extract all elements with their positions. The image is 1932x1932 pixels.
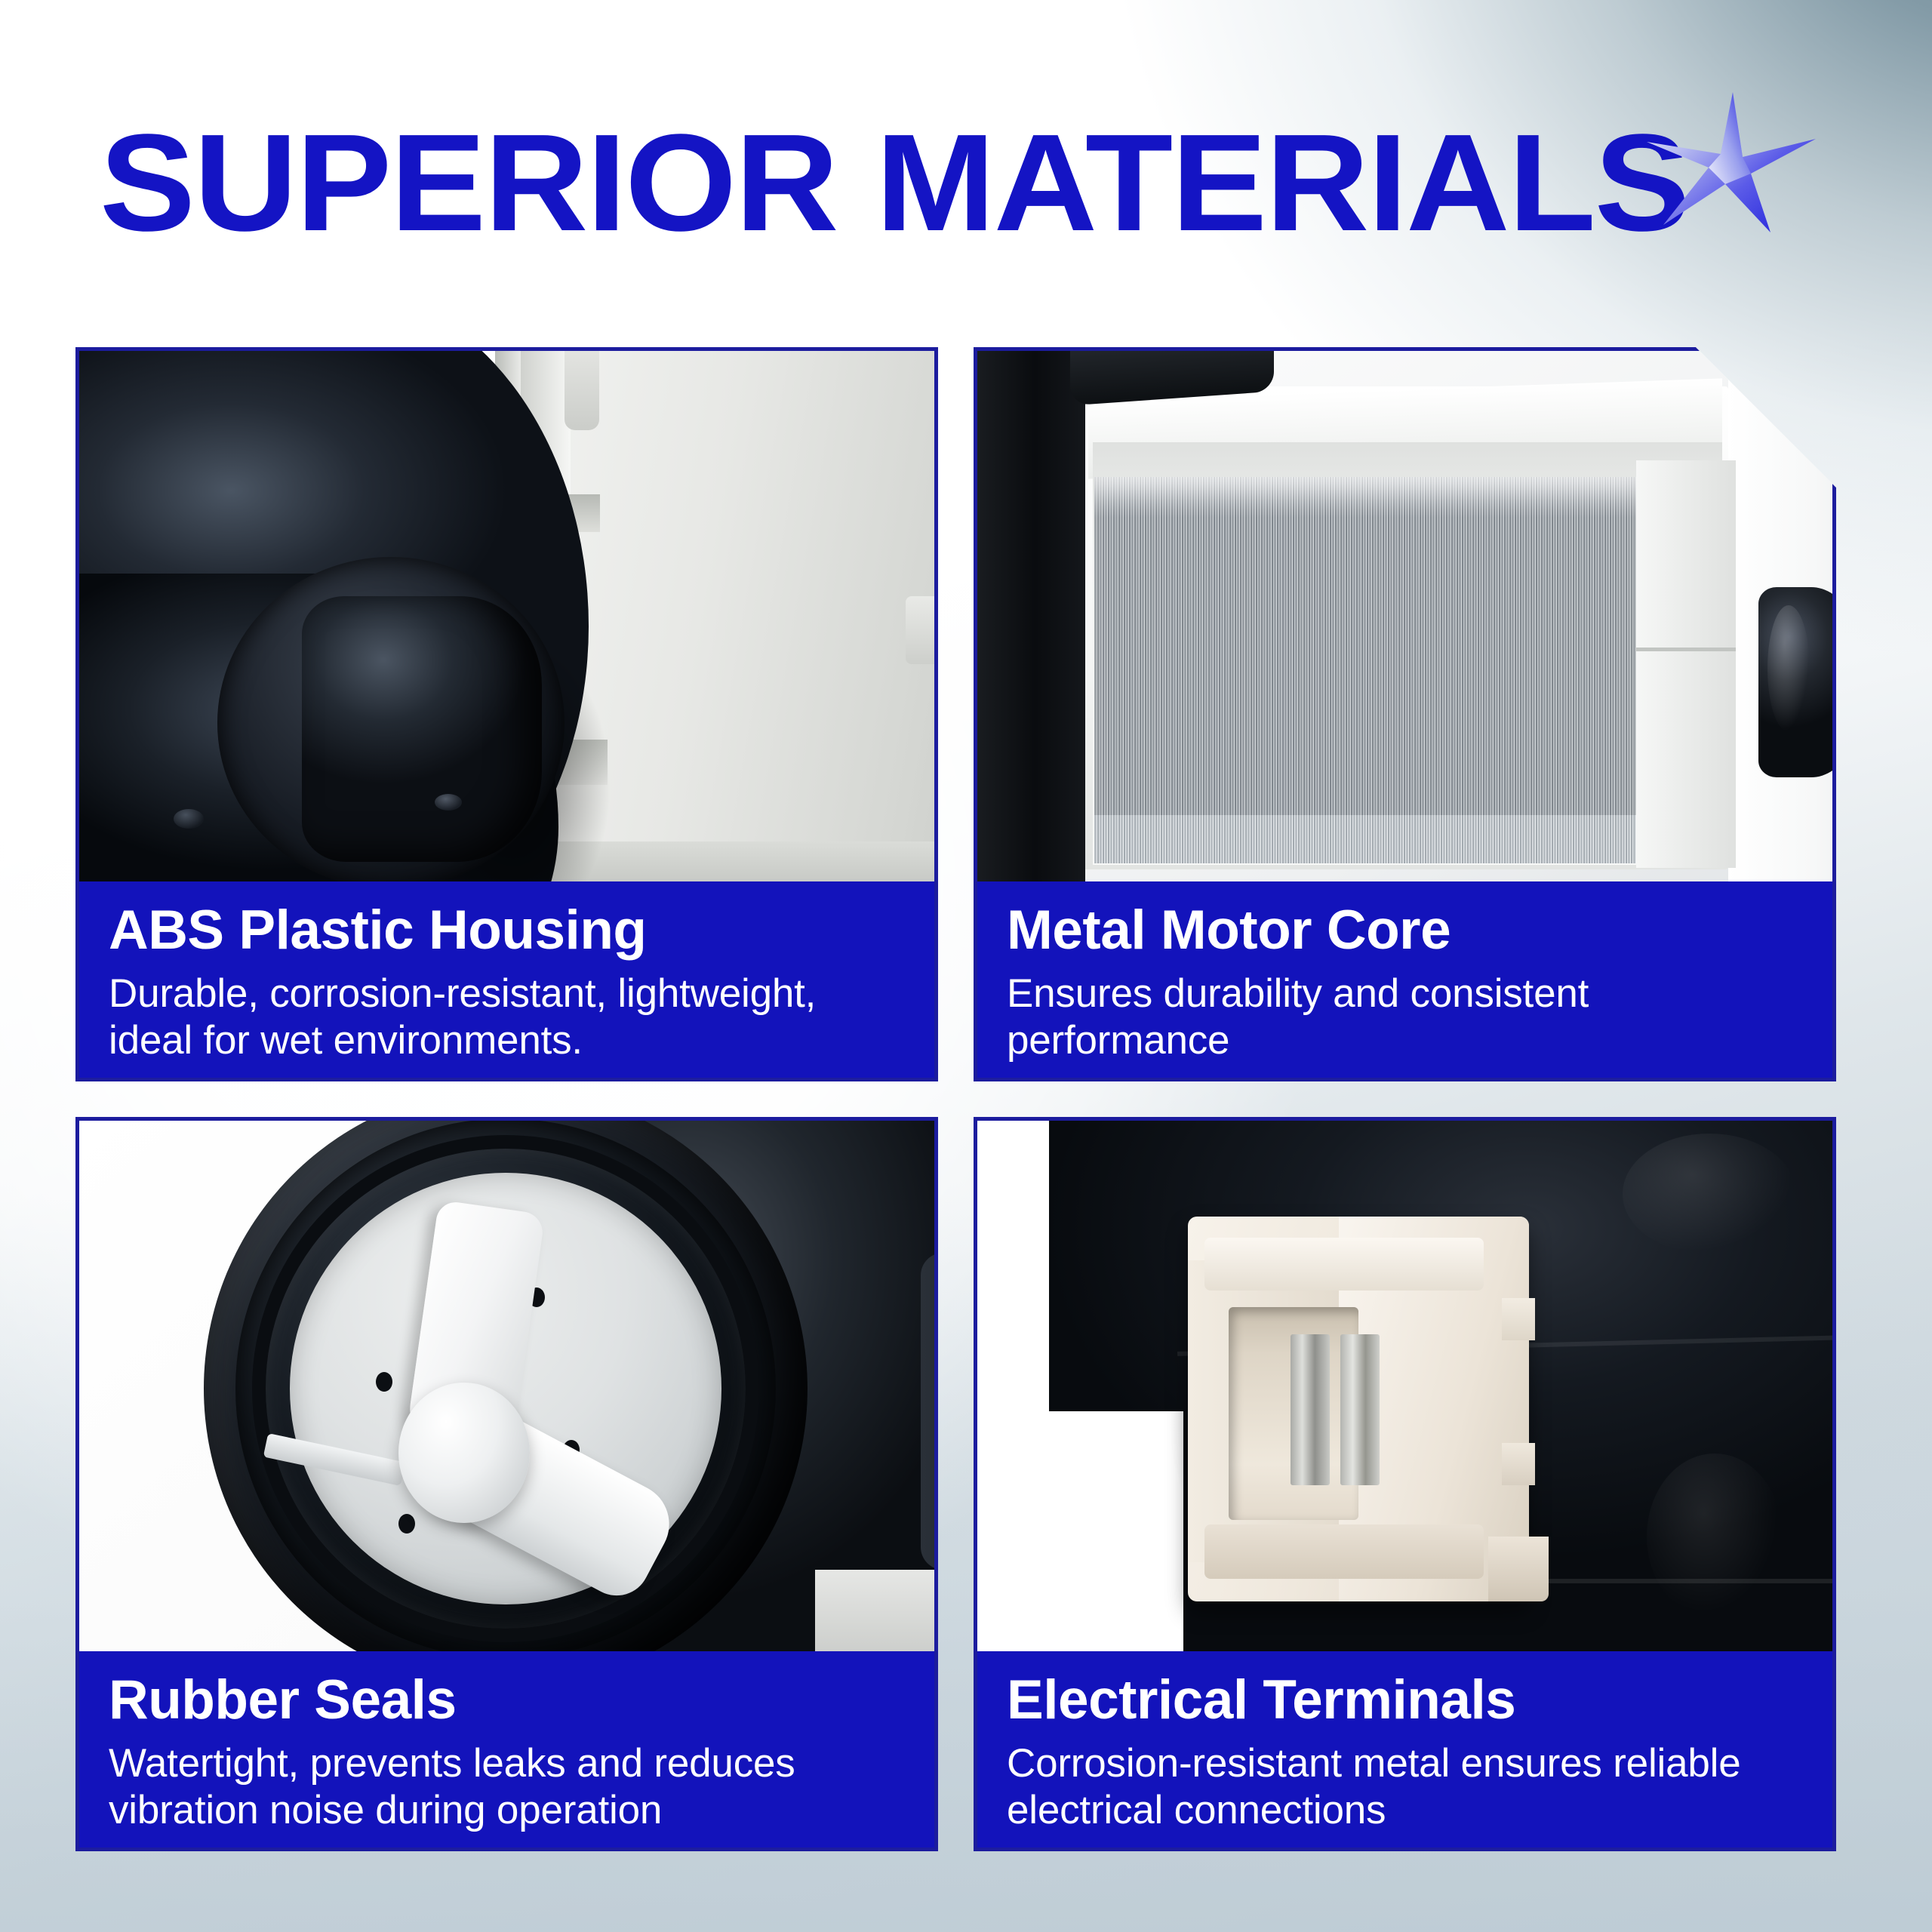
material-card-abs-plastic-housing: ABS Plastic Housing Durable, corrosion-r…	[75, 347, 938, 1081]
page-title: SUPERIOR MATERIALS	[100, 113, 1689, 251]
card-border	[974, 347, 1836, 1081]
material-card-electrical-terminals: Electrical Terminals Corrosion-resistant…	[974, 1117, 1836, 1851]
header: SUPERIOR MATERIALS	[0, 0, 1932, 317]
material-card-metal-motor-core: Metal Motor Core Ensures durability and …	[974, 347, 1836, 1081]
card-border	[75, 1117, 938, 1851]
card-border	[75, 347, 938, 1081]
star-icon	[1636, 85, 1825, 273]
card-border	[974, 1117, 1836, 1851]
material-card-rubber-seals: Rubber Seals Watertight, prevents leaks …	[75, 1117, 938, 1851]
